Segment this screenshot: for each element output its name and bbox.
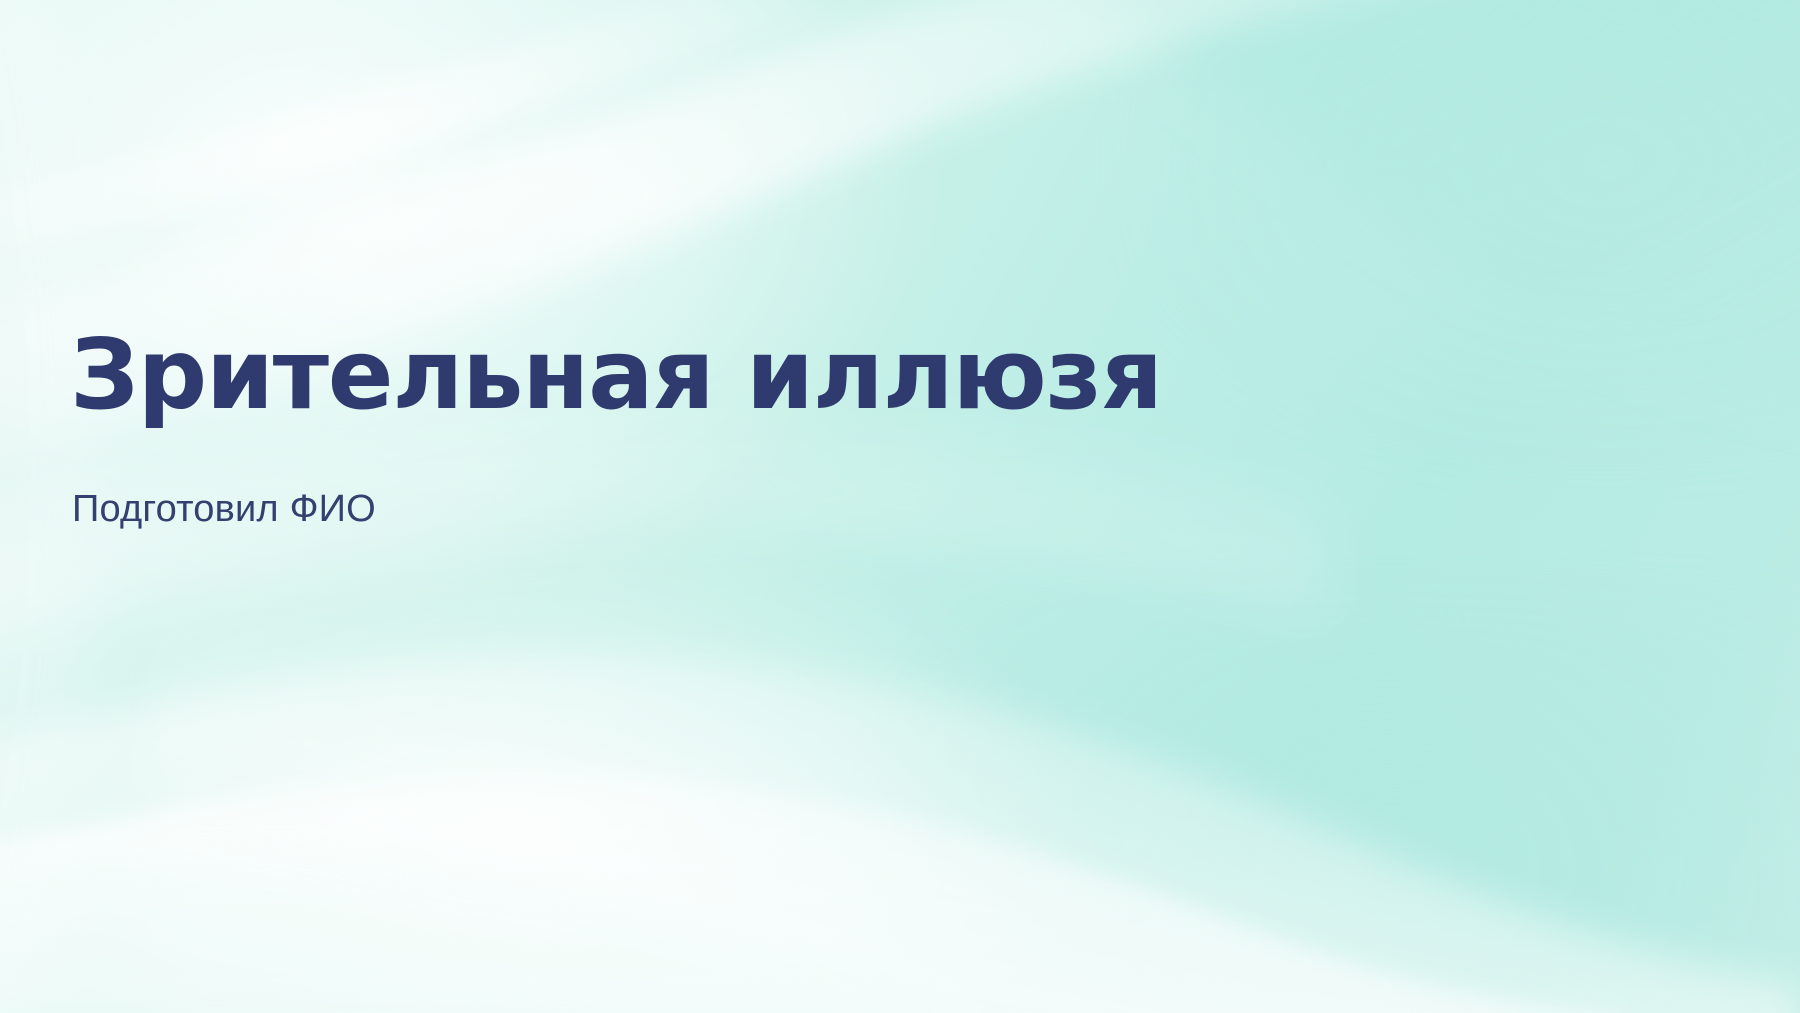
- slide-text-block: Зрительная иллюзя Подготовил ФИО: [70, 0, 1730, 1013]
- title-slide: Зрительная иллюзя Подготовил ФИО: [0, 0, 1800, 1013]
- page-title: Зрительная иллюзя: [70, 326, 1162, 423]
- slide-subtitle-author: Подготовил ФИО: [72, 487, 376, 533]
